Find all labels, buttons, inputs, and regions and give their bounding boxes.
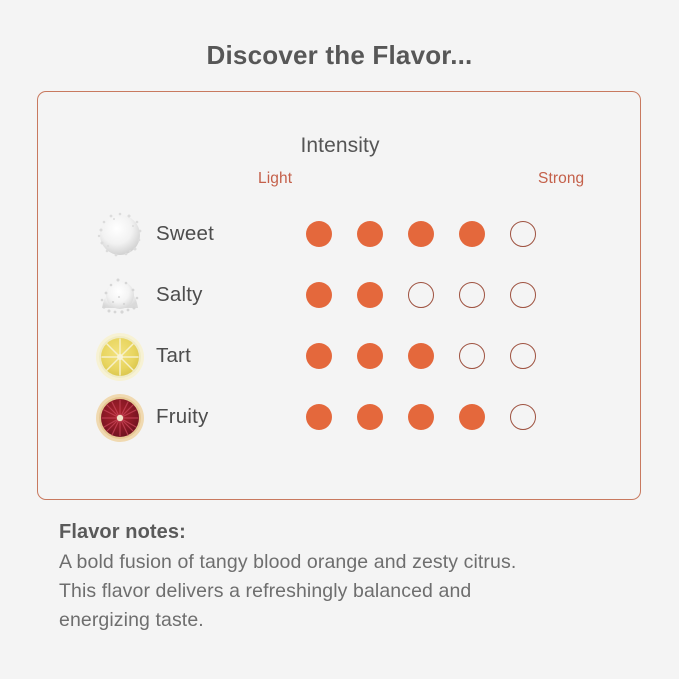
intensity-dot (510, 404, 536, 430)
intensity-dot (459, 404, 485, 430)
blood-orange-slice-icon (92, 389, 148, 445)
scale-label-strong: Strong (538, 170, 584, 188)
row-label: Sweet (156, 222, 214, 246)
lemon-slice-icon (92, 328, 148, 384)
row-label: Fruity (156, 405, 208, 429)
flavor-notes-line-1: A bold fusion of tangy blood orange and … (59, 548, 659, 577)
intensity-dot (510, 221, 536, 247)
page-title: Discover the Flavor... (0, 40, 679, 71)
intensity-rows: Sweet (38, 203, 642, 447)
intensity-dot (357, 343, 383, 369)
intensity-dots-fruity (306, 404, 536, 430)
table-row: Salty (38, 264, 642, 325)
intensity-dots-sweet (306, 221, 536, 247)
flavor-notes: Flavor notes: A bold fusion of tangy blo… (59, 521, 659, 635)
flavor-notes-body: A bold fusion of tangy blood orange and … (59, 548, 659, 635)
intensity-dot (408, 221, 434, 247)
sugar-icon (92, 206, 148, 262)
intensity-dot (306, 404, 332, 430)
intensity-dot (459, 343, 485, 369)
intensity-dot (357, 221, 383, 247)
intensity-dot (510, 282, 536, 308)
intensity-dot (306, 282, 332, 308)
intensity-dot (408, 404, 434, 430)
table-row: Fruity (38, 386, 642, 447)
flavor-notes-heading: Flavor notes: (59, 521, 659, 544)
row-label: Tart (156, 344, 191, 368)
row-label: Salty (156, 283, 203, 307)
intensity-dot (510, 343, 536, 369)
intensity-dot (306, 221, 332, 247)
intensity-dot (306, 343, 332, 369)
intensity-dots-salty (306, 282, 536, 308)
flavor-notes-line-3: energizing taste. (59, 606, 659, 635)
scale-label-light: Light (258, 170, 292, 188)
salt-icon (92, 267, 148, 323)
table-row: Sweet (38, 203, 642, 264)
intensity-dots-tart (306, 343, 536, 369)
intensity-card: Intensity Light Strong (37, 91, 641, 500)
intensity-dot (408, 282, 434, 308)
intensity-dot (459, 282, 485, 308)
flavor-notes-line-2: This flavor delivers a refreshingly bala… (59, 577, 659, 606)
flavor-profile-page: Discover the Flavor... Intensity Light S… (0, 0, 679, 679)
table-row: Tart (38, 325, 642, 386)
intensity-dot (459, 221, 485, 247)
intensity-dot (357, 282, 383, 308)
intensity-heading: Intensity (38, 134, 642, 158)
intensity-dot (408, 343, 434, 369)
intensity-dot (357, 404, 383, 430)
